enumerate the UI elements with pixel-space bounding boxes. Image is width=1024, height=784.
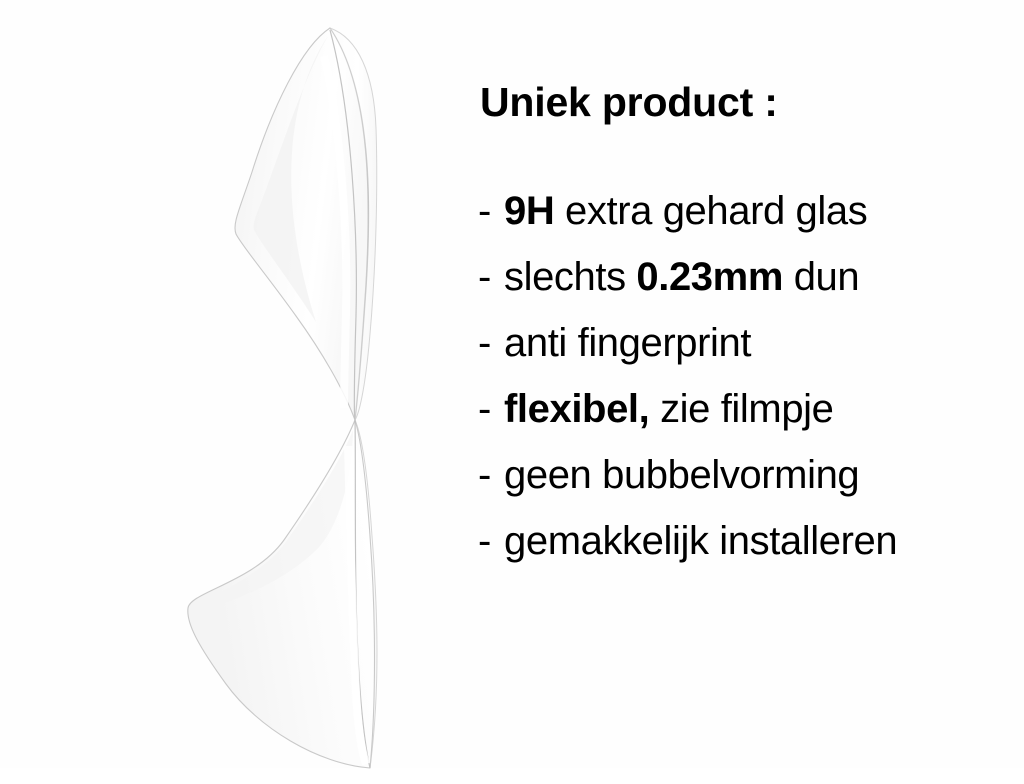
product-promo-banner: Uniek product : -9H extra gehard glas-sl… — [0, 0, 1024, 768]
features-panel: Uniek product : -9H extra gehard glas-sl… — [468, 0, 1024, 768]
feature-text-segment: extra gehard glas — [554, 189, 867, 233]
feature-text-segment: zie filmpje — [649, 387, 833, 431]
feature-item-easyinstall: -gemakkelijk installeren — [478, 508, 1024, 574]
feature-item-flexible: -flexibel, zie filmpje — [478, 376, 1024, 442]
bullet-dash: - — [478, 508, 504, 574]
product-image — [40, 16, 500, 784]
bullet-dash: - — [478, 244, 504, 310]
feature-item-nobubbles: -geen bubbelvorming — [478, 442, 1024, 508]
feature-text-segment: gemakkelijk installeren — [504, 519, 897, 563]
twisted-glass-illustration — [40, 16, 500, 784]
bullet-dash: - — [478, 376, 504, 442]
bullet-dash: - — [478, 442, 504, 508]
feature-item-hardness: -9H extra gehard glas — [478, 178, 1024, 244]
feature-text-segment: dun — [783, 255, 859, 299]
feature-text-segment: 0.23mm — [636, 255, 783, 299]
feature-item-thickness: -slechts 0.23mm dun — [478, 244, 1024, 310]
feature-item-antifinger: -anti fingerprint — [478, 310, 1024, 376]
bullet-dash: - — [478, 310, 504, 376]
feature-text-segment: flexibel, — [504, 387, 649, 431]
feature-text-segment: geen bubbelvorming — [504, 453, 859, 497]
bullet-dash: - — [478, 178, 504, 244]
feature-text-segment: slechts — [504, 255, 636, 299]
page-title: Uniek product : — [480, 79, 778, 126]
feature-list: -9H extra gehard glas-slechts 0.23mm dun… — [478, 178, 1024, 574]
feature-text-segment: 9H — [504, 189, 554, 233]
feature-text-segment: anti fingerprint — [504, 321, 751, 365]
